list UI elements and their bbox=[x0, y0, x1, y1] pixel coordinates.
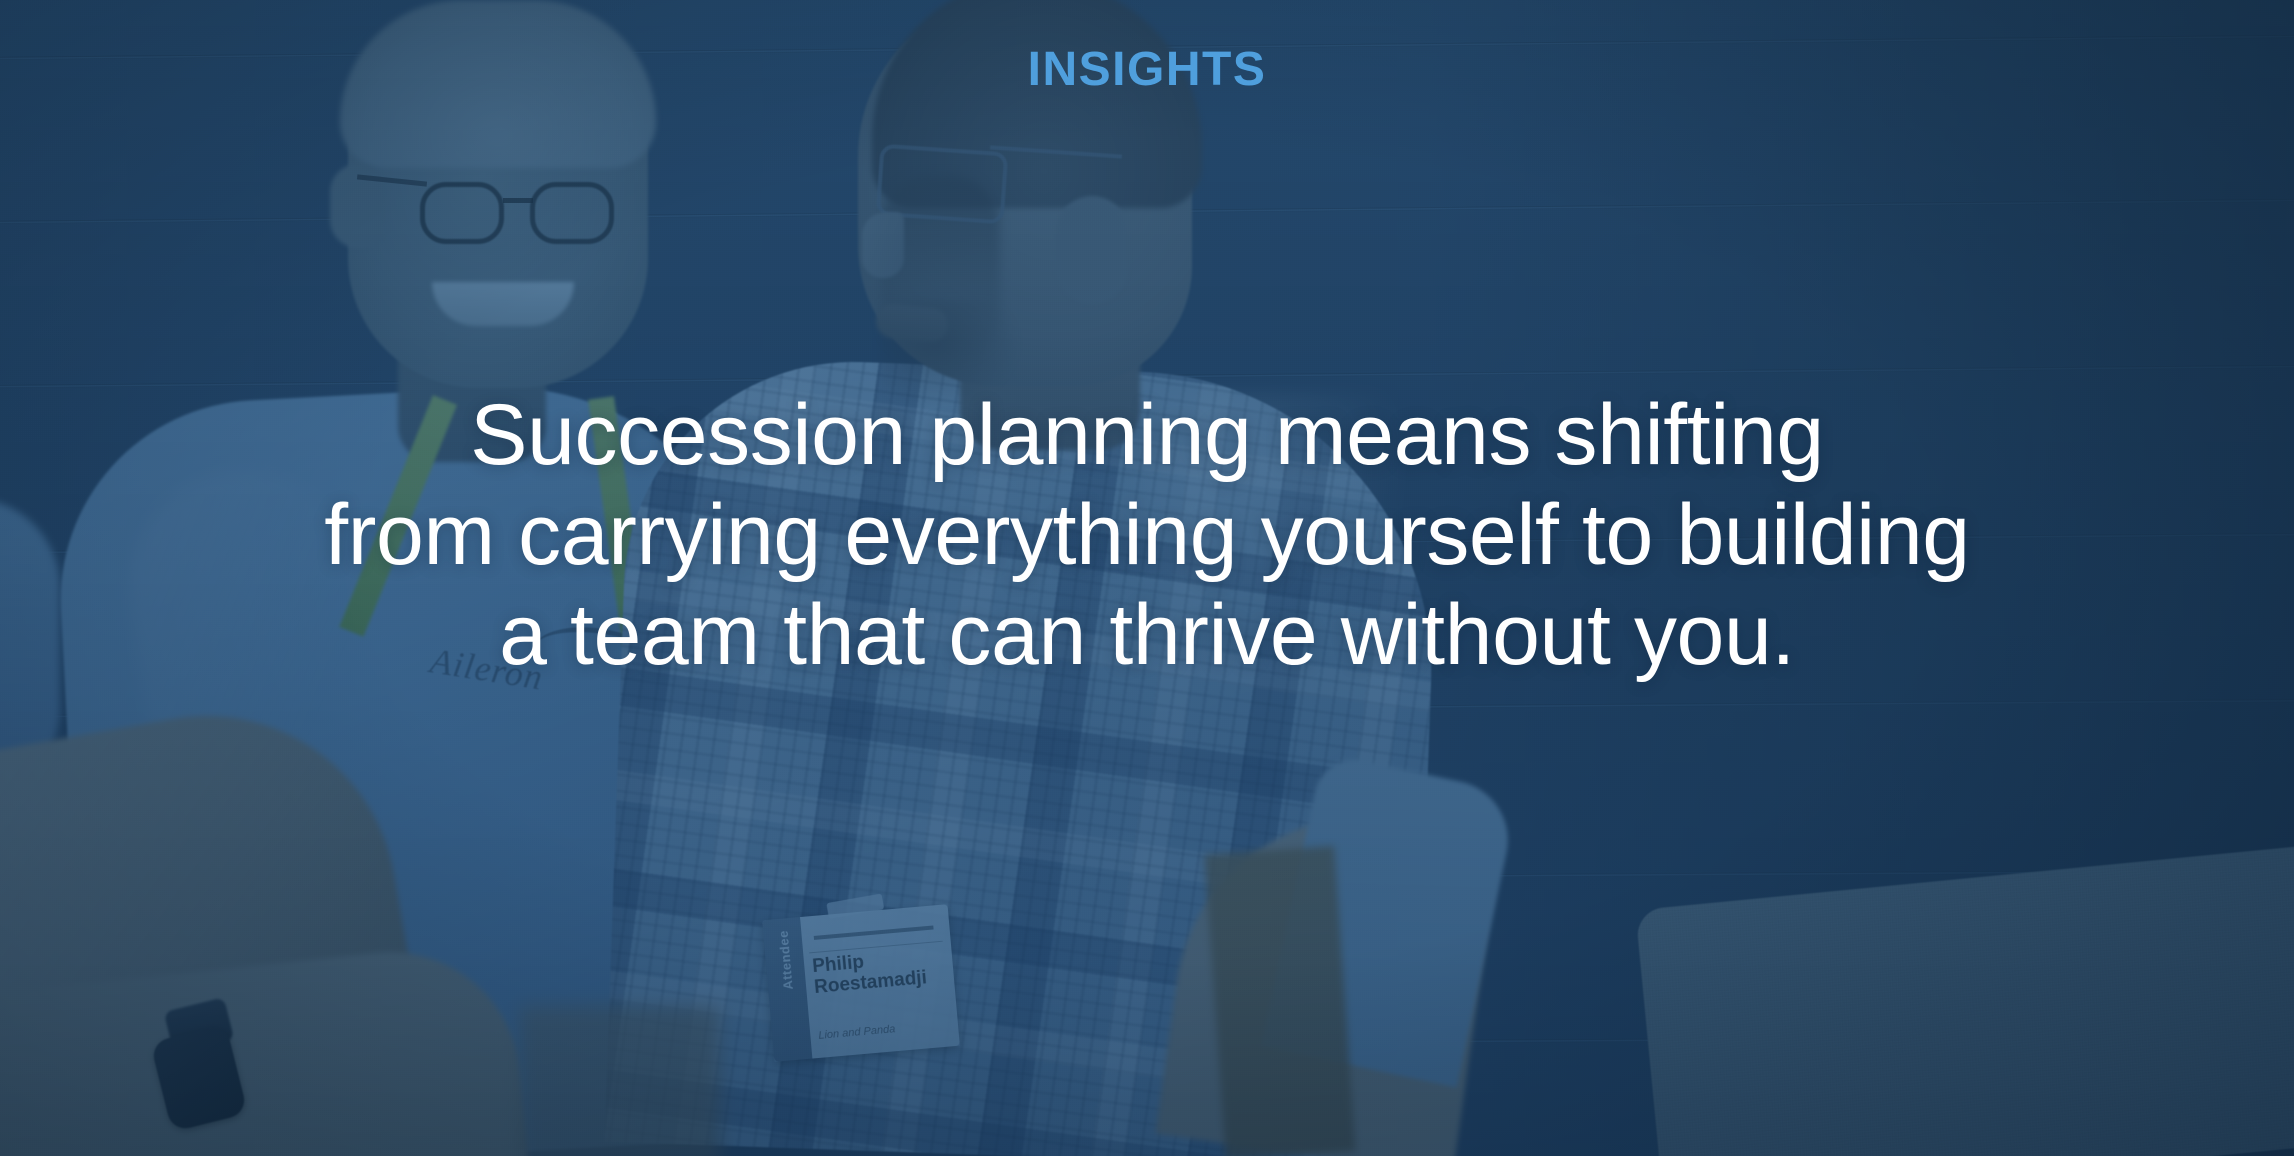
text-layer: INSIGHTS Succession planning means shift… bbox=[0, 0, 2294, 1156]
quote-line: a team that can thrive without you. bbox=[28, 586, 2266, 686]
insights-quote-card: Aileron bbox=[0, 0, 2294, 1156]
quote-text: Succession planning means shiftingfrom c… bbox=[0, 386, 2294, 685]
eyebrow-label: INSIGHTS bbox=[0, 46, 2294, 94]
quote-line: Succession planning means shifting bbox=[28, 386, 2266, 486]
quote-line: from carrying everything yourself to bui… bbox=[28, 486, 2266, 586]
